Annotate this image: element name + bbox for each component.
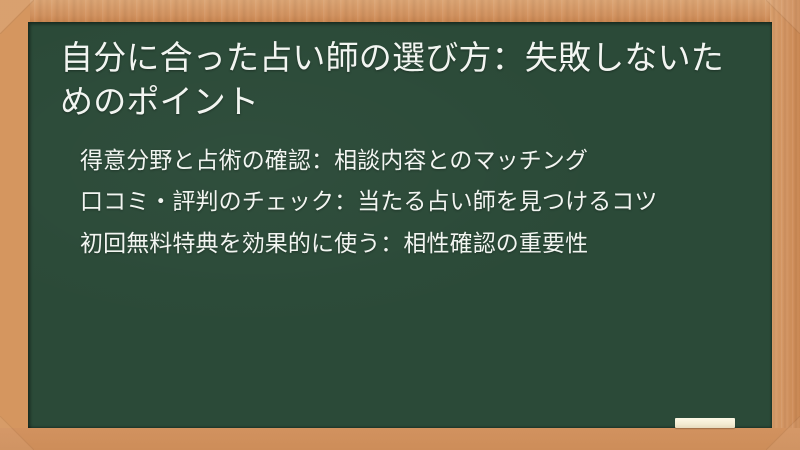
- chalk-stick: [675, 418, 735, 428]
- chalkboard-surface: 自分に合った占い師の選び方：失敗しないためのポイント 得意分野と占術の確認：相談…: [28, 22, 772, 428]
- bullet-list: 得意分野と占術の確認：相談内容とのマッチング 口コミ・評判のチェック：当たる占い…: [54, 145, 746, 261]
- frame-right-rail: [770, 0, 800, 450]
- chalkboard-slide: 自分に合った占い師の選び方：失敗しないためのポイント 得意分野と占術の確認：相談…: [0, 0, 800, 450]
- slide-title: 自分に合った占い師の選び方：失敗しないためのポイント: [54, 36, 746, 123]
- frame-left-rail: [0, 0, 30, 450]
- bullet-item-3: 初回無料特典を効果的に使う：相性確認の重要性: [54, 228, 746, 261]
- frame-top-rail: [0, 0, 800, 22]
- bullet-item-2: 口コミ・評判のチェック：当たる占い師を見つけるコツ: [54, 186, 746, 219]
- frame-bottom-rail: [0, 428, 800, 450]
- bullet-item-1: 得意分野と占術の確認：相談内容とのマッチング: [54, 145, 746, 178]
